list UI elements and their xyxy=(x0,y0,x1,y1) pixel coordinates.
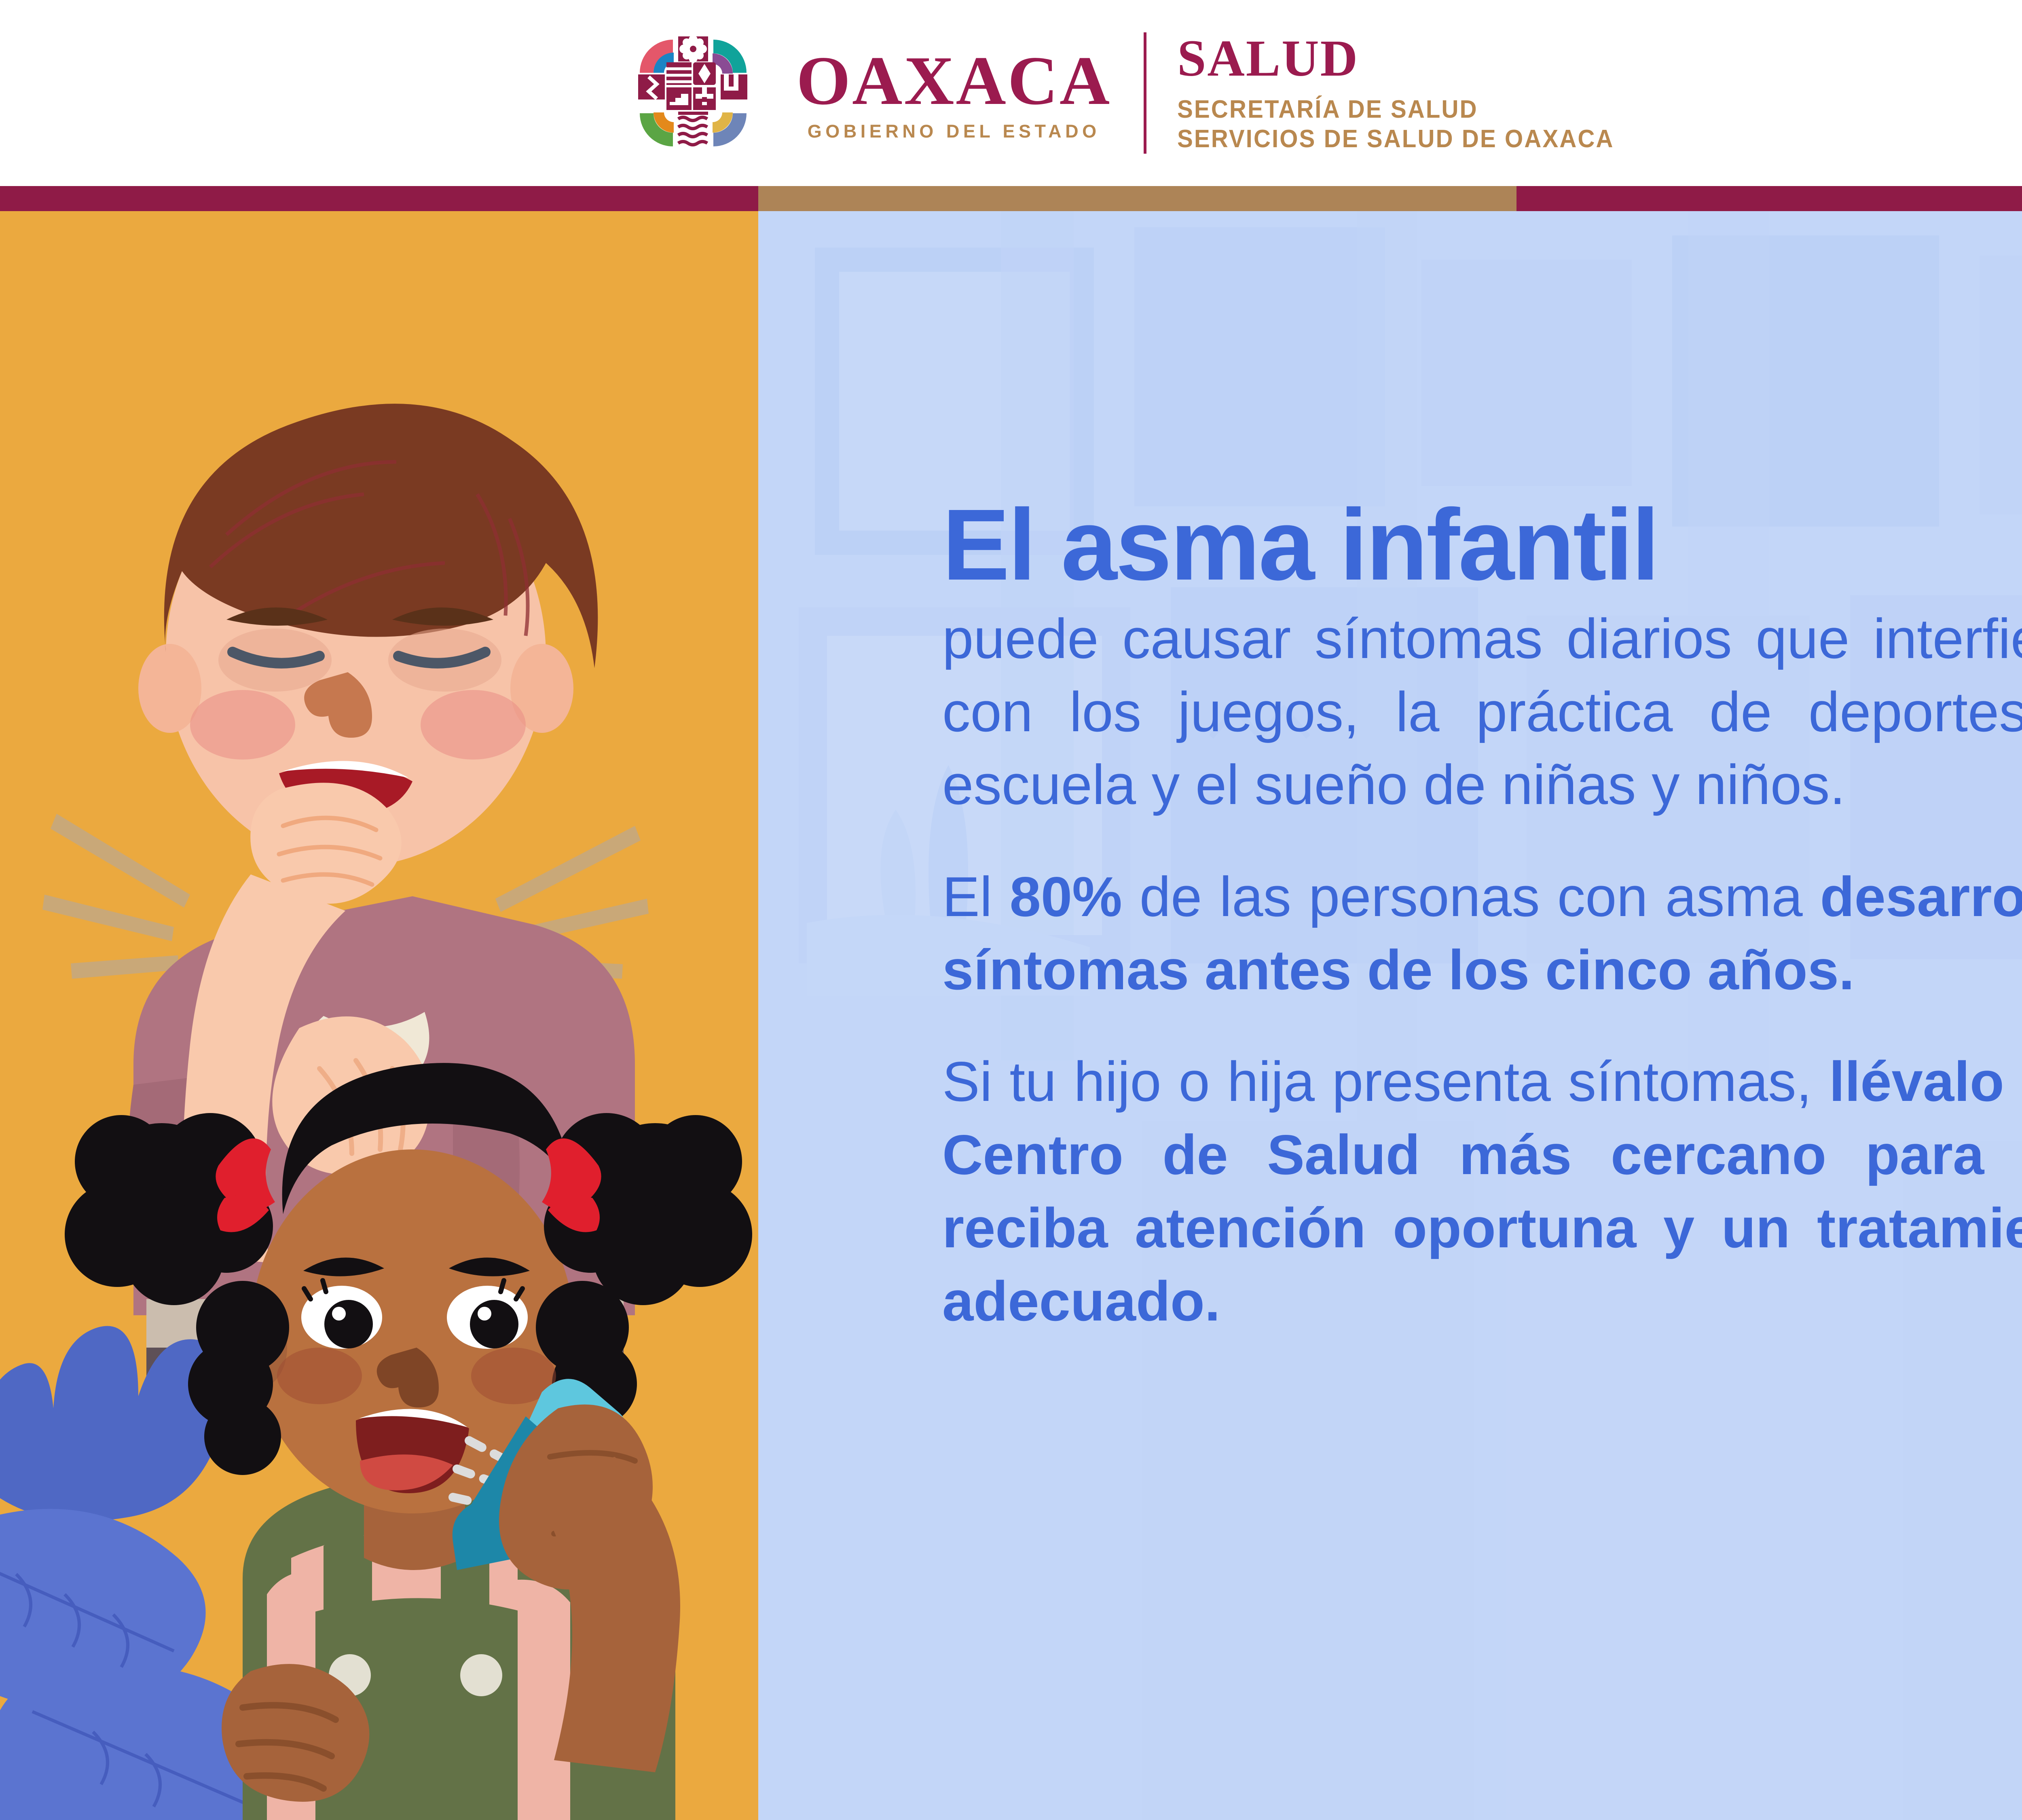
stat-prefix: El xyxy=(942,866,1010,928)
header-color-bar xyxy=(0,186,2022,211)
color-bar-segment-mid xyxy=(758,186,1516,211)
paragraph-spacer-1 xyxy=(942,822,2022,861)
color-bar-segment-right xyxy=(1516,186,2022,211)
oaxaca-state-emblem-icon xyxy=(632,32,754,154)
salud-subtitle-2: SERVICIOS DE SALUD DE OAXACA xyxy=(1177,124,1614,154)
paragraph-statistic: El 80% de las personas con asma desarrol… xyxy=(942,861,2022,1007)
salud-title: SALUD xyxy=(1177,32,1642,84)
paragraph-spacer-2 xyxy=(942,1007,2022,1045)
paragraph-intro: puede causar síntomas diarios que interf… xyxy=(942,603,2022,822)
stat-value: 80% xyxy=(1010,866,1122,928)
wordmark-subtitle: GOBIERNO DEL ESTADO xyxy=(808,122,1100,140)
oaxaca-wordmark: OAXACA GOBIERNO DEL ESTADO xyxy=(796,46,1111,140)
salud-lockup: SALUD SECRETARÍA DE SALUD SERVICIOS DE S… xyxy=(1177,32,1642,154)
text-column: El asma infantil puede causar síntomas d… xyxy=(942,494,2022,1338)
asma-infantil-infographic: OAXACA GOBIERNO DEL ESTADO SALUD SECRETA… xyxy=(0,0,2022,1820)
paragraph-call-to-action: Si tu hijo o hija presenta síntomas, llé… xyxy=(942,1045,2022,1338)
page-title: El asma infantil xyxy=(942,494,2022,595)
cta-prefix: Si tu hijo o hija presenta síntomas, xyxy=(942,1050,1829,1113)
salud-subtitle-1: SECRETARÍA DE SALUD xyxy=(1177,95,1614,124)
poster-body: El asma infantil puede causar síntomas d… xyxy=(0,211,2022,1820)
wordmark-text: OAXACA xyxy=(796,46,1111,116)
header-bar: OAXACA GOBIERNO DEL ESTADO SALUD SECRETA… xyxy=(0,0,2022,186)
header-divider-rule xyxy=(1144,32,1146,154)
stat-middle: de las personas con asma xyxy=(1122,866,1820,928)
illustration-panel xyxy=(0,211,758,1820)
color-bar-segment-left xyxy=(0,186,758,211)
